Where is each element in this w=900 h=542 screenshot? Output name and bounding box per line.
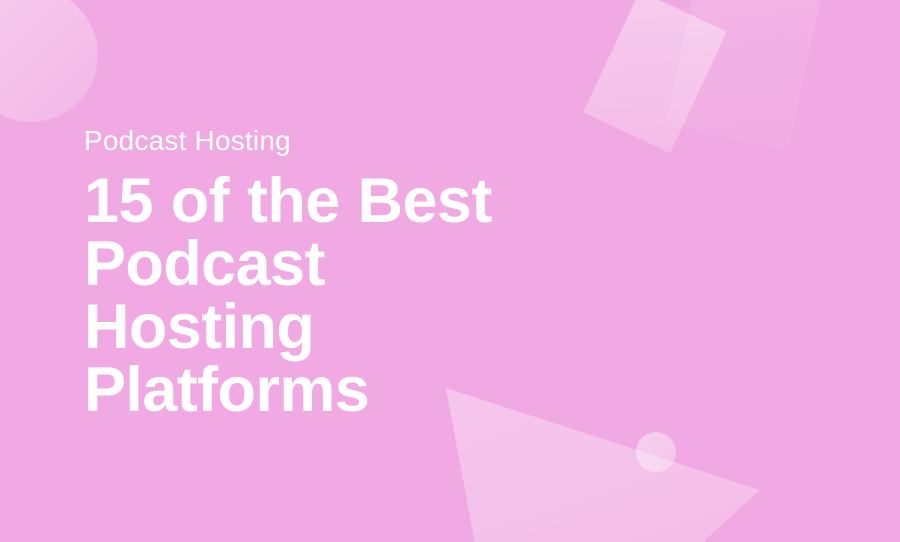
banner-headline: 15 of the Best Podcast Hosting Platforms xyxy=(84,170,554,422)
decorative-rectangle-back-icon xyxy=(665,0,832,151)
decorative-circle-icon xyxy=(0,0,98,122)
banner-kicker: Podcast Hosting xyxy=(84,124,644,158)
hero-banner: Podcast Hosting 15 of the Best Podcast H… xyxy=(0,0,900,542)
banner-text-block: Podcast Hosting 15 of the Best Podcast H… xyxy=(84,124,644,422)
decorative-small-circle-icon xyxy=(636,432,676,472)
